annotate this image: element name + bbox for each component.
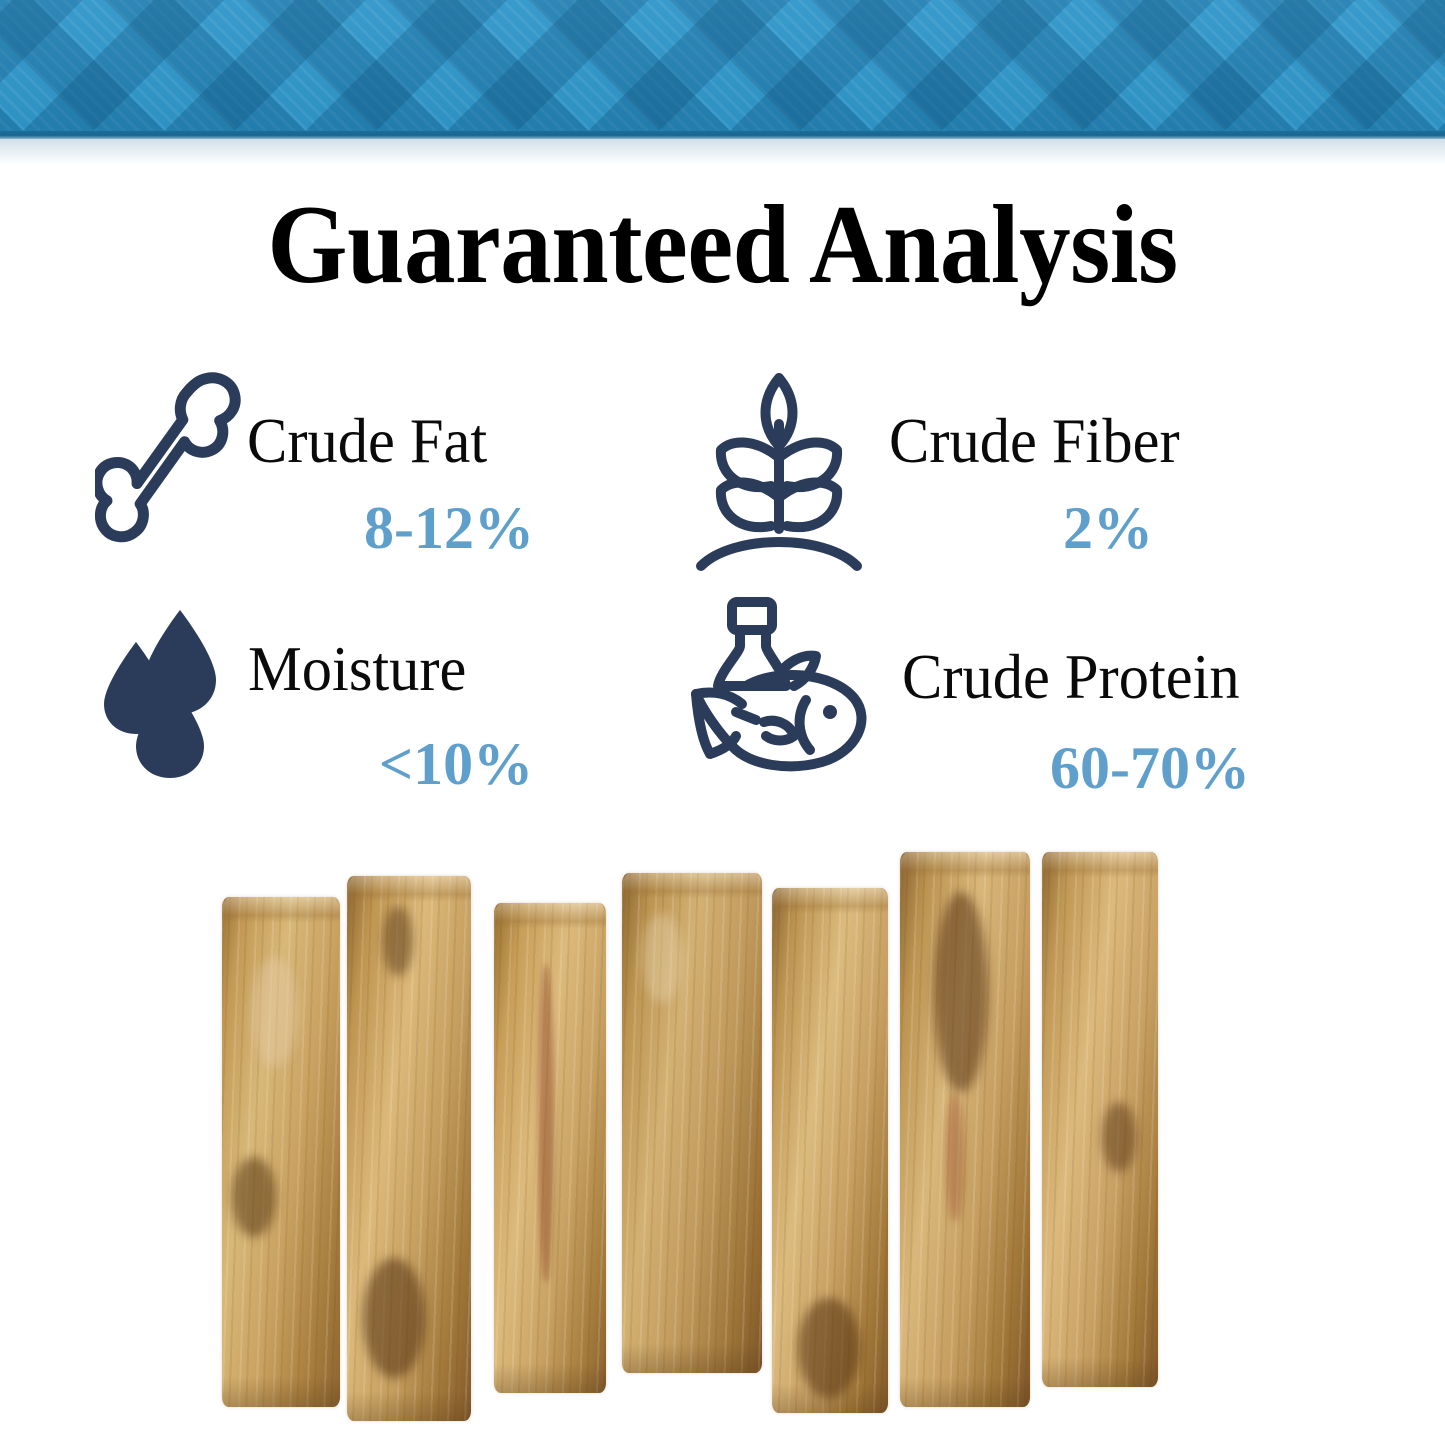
bully-stick-6 bbox=[900, 852, 1030, 1407]
wheat-icon bbox=[693, 366, 865, 579]
bully-stick-4 bbox=[622, 873, 762, 1373]
stick-bottom-shade bbox=[900, 1377, 1030, 1407]
stat-crude-fiber-value: 2% bbox=[889, 496, 1319, 560]
water-drop-icon bbox=[100, 604, 240, 789]
stat-crude-fat-label: Crude Fat bbox=[247, 408, 631, 474]
stat-moisture: Moisture <10% bbox=[100, 604, 660, 834]
stick-top-cap bbox=[222, 897, 340, 923]
stick-top-cap bbox=[900, 852, 1030, 878]
stick-bottom-shade bbox=[772, 1383, 888, 1413]
stick-top-cap bbox=[1042, 852, 1158, 878]
bully-stick-2 bbox=[347, 876, 471, 1421]
header-pattern-band bbox=[0, 0, 1445, 139]
bully-stick-1 bbox=[222, 897, 340, 1407]
stick-blemish bbox=[642, 913, 682, 1003]
stick-top-cap bbox=[347, 876, 471, 902]
stick-blemish bbox=[934, 892, 988, 1092]
stat-moisture-label: Moisture bbox=[248, 636, 634, 702]
stat-crude-protein: Crude Protein 60-70% bbox=[680, 594, 1400, 834]
stat-crude-protein-label: Crude Protein bbox=[902, 644, 1363, 710]
stick-bottom-shade bbox=[222, 1377, 340, 1407]
stick-blemish bbox=[363, 1258, 425, 1378]
stick-grain bbox=[1042, 852, 1158, 1387]
stick-blemish bbox=[252, 957, 298, 1067]
page-title: Guaranteed Analysis bbox=[58, 186, 1387, 304]
stat-crude-protein-value: 60-70% bbox=[902, 736, 1382, 800]
stat-crude-fiber-text: Crude Fiber 2% bbox=[889, 408, 1319, 560]
stick-top-cap bbox=[772, 888, 888, 914]
stick-blemish bbox=[383, 906, 413, 976]
stat-crude-fat: Crude Fat 8-12% bbox=[95, 360, 655, 590]
stat-crude-fat-text: Crude Fat 8-12% bbox=[247, 408, 647, 560]
stat-moisture-value: <10% bbox=[248, 732, 650, 796]
bully-stick-5 bbox=[772, 888, 888, 1413]
stick-blemish bbox=[538, 963, 554, 1283]
stat-crude-fiber: Crude Fiber 2% bbox=[693, 366, 1313, 596]
header-drop-shadow bbox=[0, 139, 1445, 165]
stat-moisture-text: Moisture <10% bbox=[248, 636, 650, 796]
stick-bottom-shade bbox=[622, 1343, 762, 1373]
fish-oil-icon bbox=[680, 594, 885, 789]
header-bottom-rule bbox=[0, 131, 1445, 139]
stick-top-cap bbox=[622, 873, 762, 899]
plaid-sheen-overlay bbox=[0, 0, 1445, 139]
bully-stick-7 bbox=[1042, 852, 1158, 1387]
bully-stick-3 bbox=[494, 903, 606, 1393]
stick-bottom-shade bbox=[347, 1391, 471, 1421]
stick-blemish bbox=[1102, 1102, 1136, 1172]
stick-bottom-shade bbox=[1042, 1357, 1158, 1387]
stick-blemish bbox=[946, 1092, 964, 1222]
stat-crude-fat-value: 8-12% bbox=[247, 496, 647, 560]
bone-icon bbox=[95, 360, 245, 580]
stat-crude-protein-text: Crude Protein 60-70% bbox=[902, 644, 1382, 800]
product-photo-bully-sticks bbox=[0, 845, 1445, 1445]
stick-blemish bbox=[232, 1157, 276, 1237]
stick-top-cap bbox=[494, 903, 606, 929]
stat-crude-fiber-label: Crude Fiber bbox=[889, 408, 1302, 474]
stick-bottom-shade bbox=[494, 1363, 606, 1393]
guaranteed-analysis-grid: Crude Fat 8-12% bbox=[0, 352, 1445, 822]
